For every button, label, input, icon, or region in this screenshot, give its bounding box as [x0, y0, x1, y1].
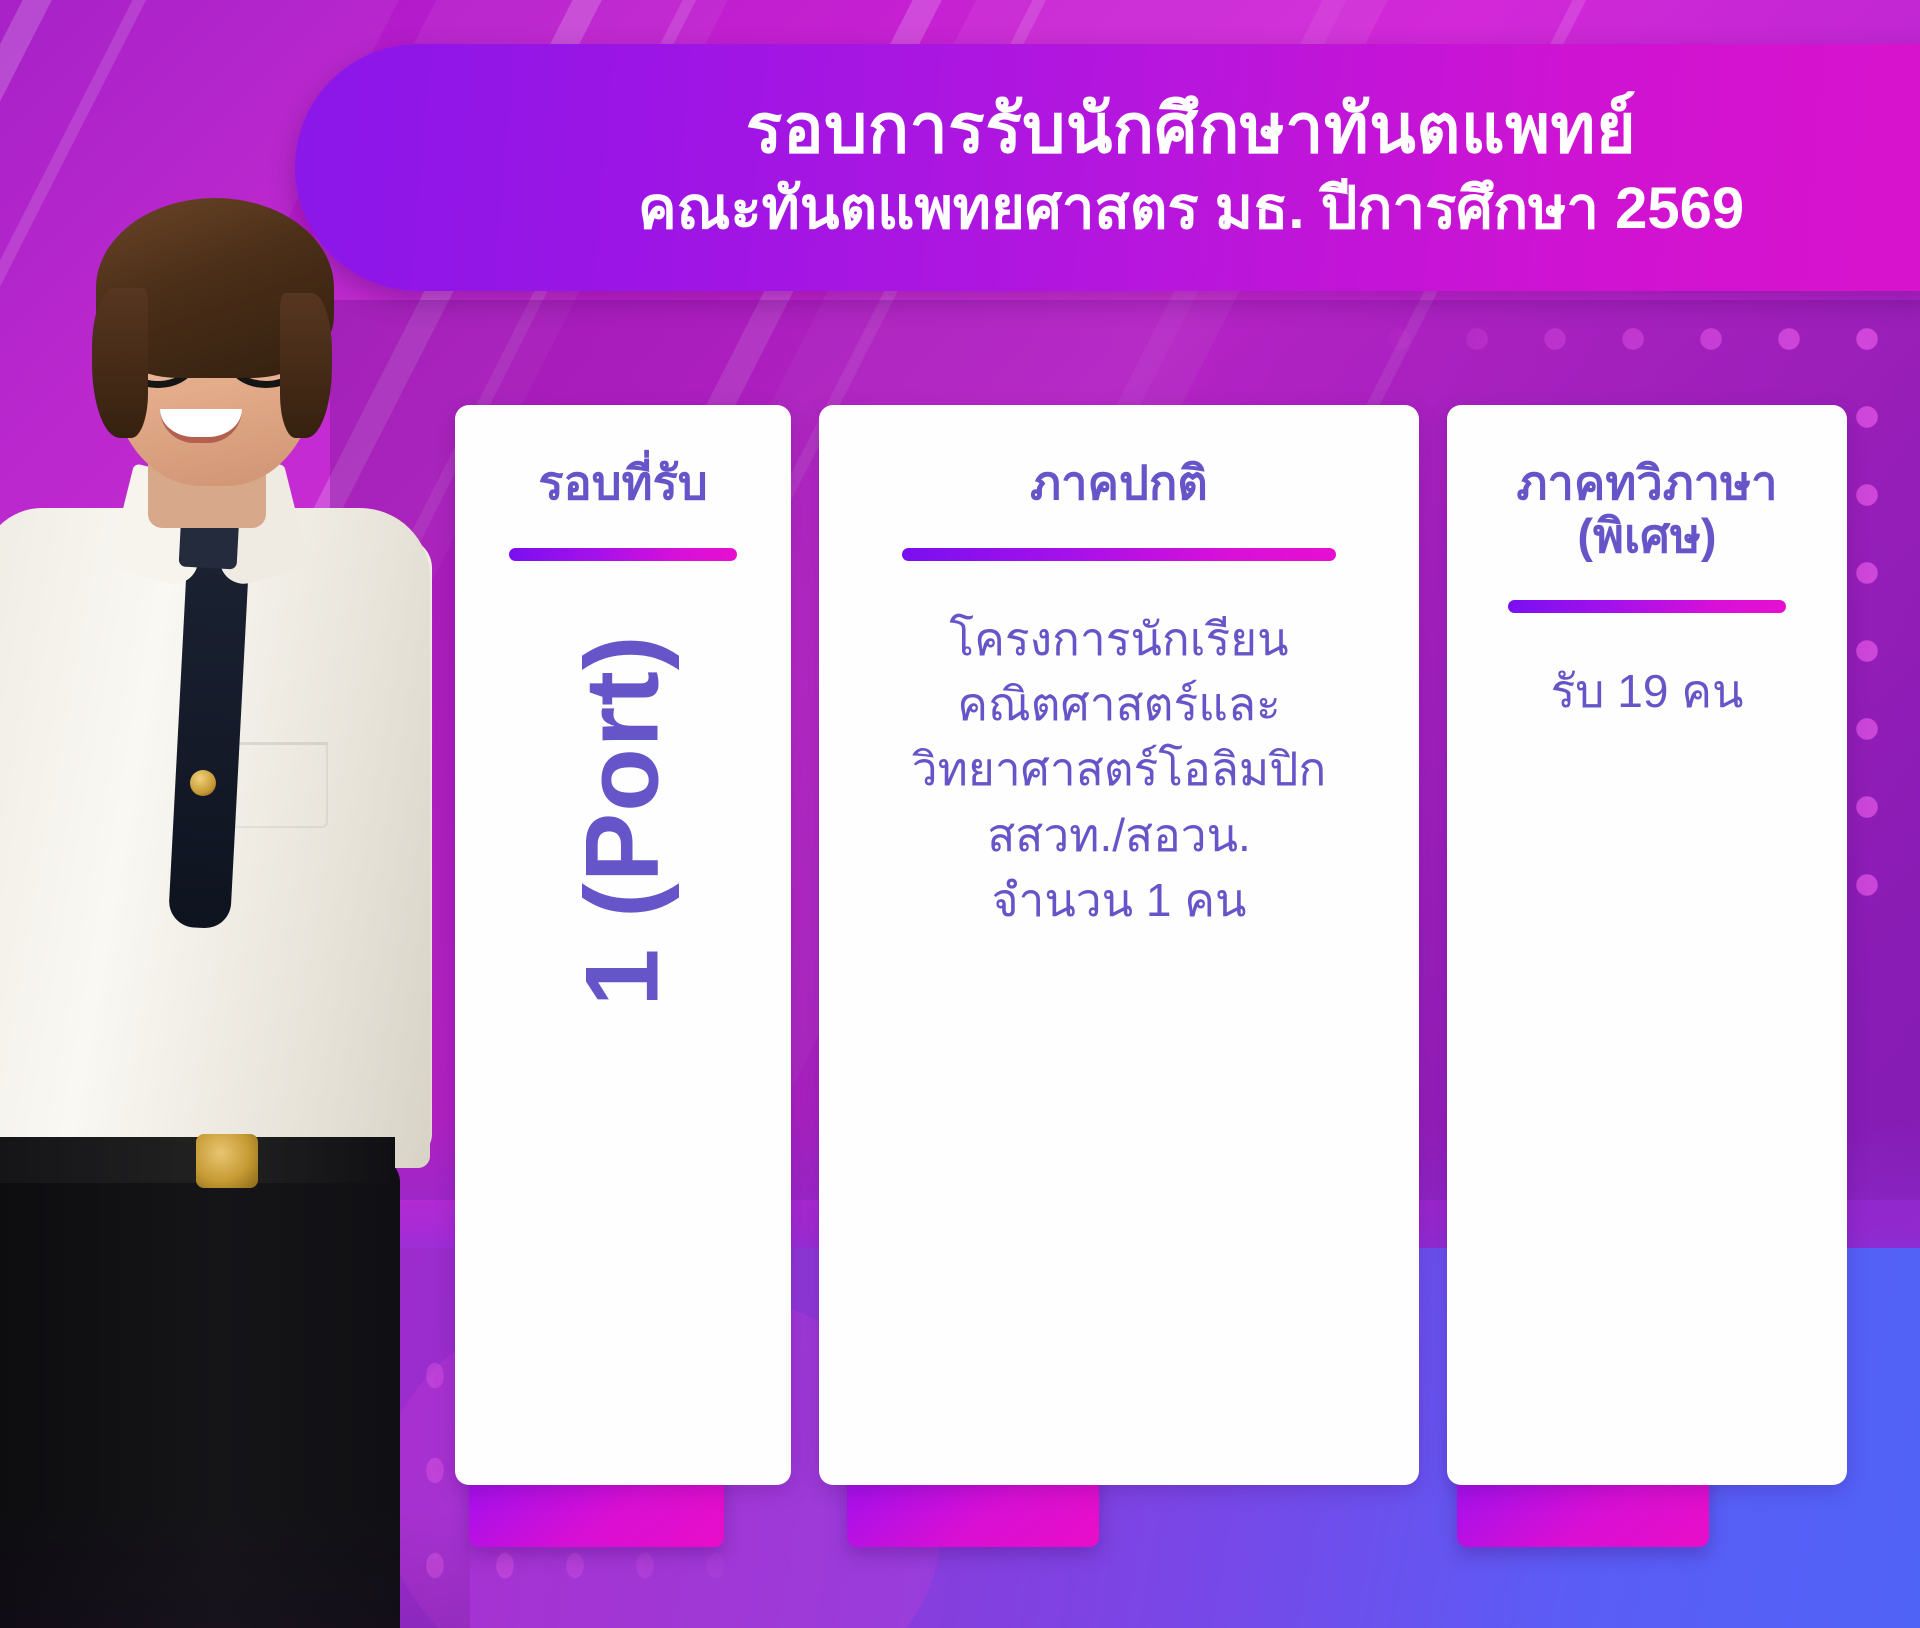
card-round: รอบที่รับ 1 (Port)	[455, 405, 791, 1485]
card-body-round: รอบที่รับ 1 (Port)	[455, 405, 791, 1485]
portrait-shadow	[0, 1508, 470, 1628]
card-bilingual-program: ภาคทวิภาษา (พิเศษ) รับ 19 คน	[1447, 405, 1847, 1485]
card-content-line: รับ 19 คน	[1551, 659, 1744, 724]
portrait-belt-buckle	[196, 1134, 258, 1188]
page-subtitle: คณะทันตแพทยศาสตร มธ. ปีการศึกษา 2569	[638, 177, 1744, 242]
portrait-uniform-pin	[190, 770, 216, 796]
card-content-line: วิทยาศาสตร์โอลิมปิก	[912, 737, 1327, 802]
portrait-hair-side-right	[280, 293, 332, 438]
card-divider	[1508, 600, 1786, 613]
admission-cards-row: รอบที่รับ 1 (Port) ภาคปกติ โครงการนักเรี…	[455, 405, 1865, 1505]
card-body-bilingual: ภาคทวิภาษา (พิเศษ) รับ 19 คน	[1447, 405, 1847, 1485]
card-body-regular: ภาคปกติ โครงการนักเรียน คณิตศาสตร์และ วิ…	[819, 405, 1419, 1485]
round-vertical-label: 1 (Port)	[564, 634, 683, 1006]
card-content: รับ 19 คน	[1551, 659, 1744, 724]
page-title: รอบการรับนักศึกษาทันตแพทย์	[746, 93, 1636, 166]
card-content: โครงการนักเรียน คณิตศาสตร์และ วิทยาศาสตร…	[912, 607, 1327, 934]
card-content-line: คณิตศาสตร์และ	[912, 672, 1327, 737]
card-divider	[902, 548, 1336, 561]
card-heading: ภาคทวิภาษา (พิเศษ)	[1517, 457, 1778, 562]
card-content-line: สสวท./สอวน.	[912, 803, 1327, 868]
card-divider	[509, 548, 737, 561]
student-portrait-image	[0, 88, 470, 1628]
portrait-hair-side-left	[92, 288, 148, 438]
vertical-label-wrap: 1 (Port)	[477, 561, 769, 1485]
card-heading-line: (พิเศษ)	[1517, 510, 1778, 563]
card-heading-line: ภาคทวิภาษา	[1517, 457, 1778, 510]
card-heading: รอบที่รับ	[538, 457, 707, 510]
card-content-line: จำนวน 1 คน	[912, 868, 1327, 933]
title-banner: รอบการรับนักศึกษาทันตแพทย์ คณะทันตแพทยศา…	[295, 44, 1920, 291]
card-content-line: โครงการนักเรียน	[912, 607, 1327, 672]
card-heading: ภาคปกติ	[1030, 457, 1208, 510]
card-regular-program: ภาคปกติ โครงการนักเรียน คณิตศาสตร์และ วิ…	[819, 405, 1419, 1485]
